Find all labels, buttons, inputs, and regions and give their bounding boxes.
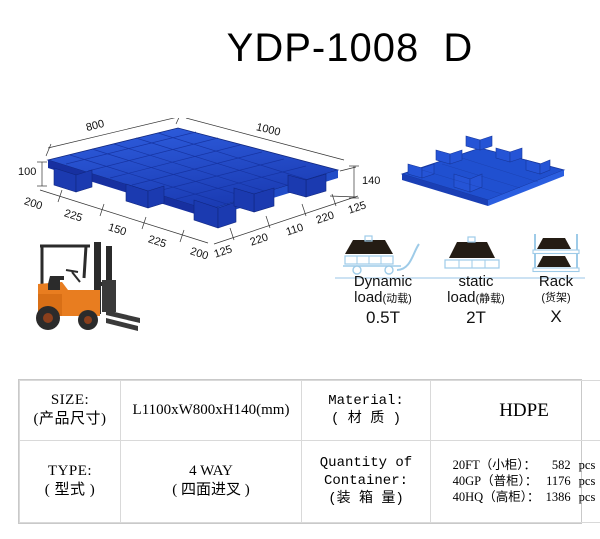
qty-name-40hq: 40HQ（高柜）： [453, 489, 531, 505]
dim-label-height-100: 100 [18, 166, 36, 178]
cell-size-label: SIZE: (产品尺寸) [20, 381, 121, 441]
load-dynamic-value: 0.5T [335, 308, 431, 328]
cell-type-label: TYPE: ( 型式 ) [20, 440, 121, 522]
cell-type-value: 4 WAY ( 四面进叉 ) [121, 440, 302, 522]
product-spec-sheet: YDP-1008 D [0, 0, 600, 539]
forklift-icon [22, 232, 142, 337]
table-row-type: TYPE: ( 型式 ) 4 WAY ( 四面进叉 ) Quantity of … [20, 440, 600, 522]
type-label-en: TYPE: [24, 462, 116, 481]
load-dynamic-line2: load [354, 289, 382, 306]
quantity-label-line1: Quantity of [306, 454, 426, 472]
cell-material-value: HDPE [431, 381, 600, 441]
list-item: 20FT（小柜）：582pcs [453, 457, 596, 473]
dim-label-height-140: 140 [362, 175, 380, 187]
size-label-en: SIZE: [24, 391, 116, 410]
table-row-size: SIZE: (产品尺寸) L1100xW800xH140(mm) Materia… [20, 381, 600, 441]
quantity-list: 20FT（小柜）：582pcs 40GP（普柜）：1176pcs 40HQ（高柜… [453, 457, 596, 505]
load-dynamic-cn: (动载) [383, 293, 412, 305]
hand-truck-load-icon [335, 232, 431, 274]
material-value: HDPE [435, 401, 600, 420]
material-label-en: Material: [306, 392, 426, 410]
pallet-bottom-view [392, 112, 572, 222]
load-rack-cn: (货架) [521, 290, 591, 306]
load-rack: Rack (货架) X [521, 232, 591, 327]
qty-value-20ft: 582 [531, 457, 571, 473]
load-static-value: 2T [435, 308, 517, 328]
qty-value-40hq: 1386 [531, 489, 571, 505]
load-static-line2: load [447, 289, 475, 306]
quantity-label-line2: Container: [306, 472, 426, 490]
qty-name-40gp: 40GP（普柜）： [453, 473, 531, 489]
qty-unit-20ft: pcs [571, 457, 596, 473]
page-title: YDP-1008 D [0, 26, 600, 71]
hand-truck-drawing [335, 232, 431, 276]
load-rack-line1: Rack [521, 274, 591, 290]
load-static-line1: static [435, 274, 517, 290]
load-dynamic-line1: Dynamic [335, 274, 431, 290]
load-static-cn: (静载) [476, 293, 505, 305]
load-capacity-group: Dynamic load(动载) 0.5T static load(静载) [335, 232, 590, 342]
cell-quantity-value: 20FT（小柜）：582pcs 40GP（普柜）：1176pcs 40HQ（高柜… [431, 440, 600, 522]
load-dynamic-label: Dynamic load(动载) [335, 274, 431, 307]
pallet-bottom-view-drawing [392, 112, 572, 222]
load-dynamic: Dynamic load(动载) 0.5T [335, 232, 431, 328]
rack-drawing [521, 232, 591, 276]
forklift-drawing [22, 232, 142, 337]
qty-name-20ft: 20FT（小柜）： [453, 457, 531, 473]
list-item: 40HQ（高柜）：1386pcs [453, 489, 596, 505]
load-static-label: static load(静载) [435, 274, 517, 307]
load-rack-label: Rack (货架) [521, 274, 591, 306]
size-label-cn: (产品尺寸) [24, 410, 116, 429]
static-pallet-load-icon [435, 232, 517, 274]
qty-unit-40hq: pcs [571, 489, 596, 505]
cell-size-value: L1100xW800xH140(mm) [121, 381, 302, 441]
load-static: static load(静载) 2T [435, 232, 517, 328]
type-value-en: 4 WAY [125, 462, 297, 481]
rack-load-icon [521, 232, 591, 274]
list-item: 40GP（普柜）：1176pcs [453, 473, 596, 489]
load-rack-value: X [521, 307, 591, 327]
qty-value-40gp: 1176 [531, 473, 571, 489]
quantity-label-cn: (装 箱 量) [306, 490, 426, 508]
cell-material-label: Material: ( 材 质 ) [302, 381, 431, 441]
type-label-cn: ( 型式 ) [24, 481, 116, 500]
material-label-cn: ( 材 质 ) [306, 410, 426, 428]
size-value: L1100xW800xH140(mm) [125, 401, 297, 420]
cell-quantity-label: Quantity of Container: (装 箱 量) [302, 440, 431, 522]
spec-table: SIZE: (产品尺寸) L1100xW800xH140(mm) Materia… [18, 379, 582, 524]
qty-unit-40gp: pcs [571, 473, 596, 489]
type-value-cn: ( 四面进叉 ) [125, 481, 297, 500]
static-load-drawing [435, 232, 517, 276]
